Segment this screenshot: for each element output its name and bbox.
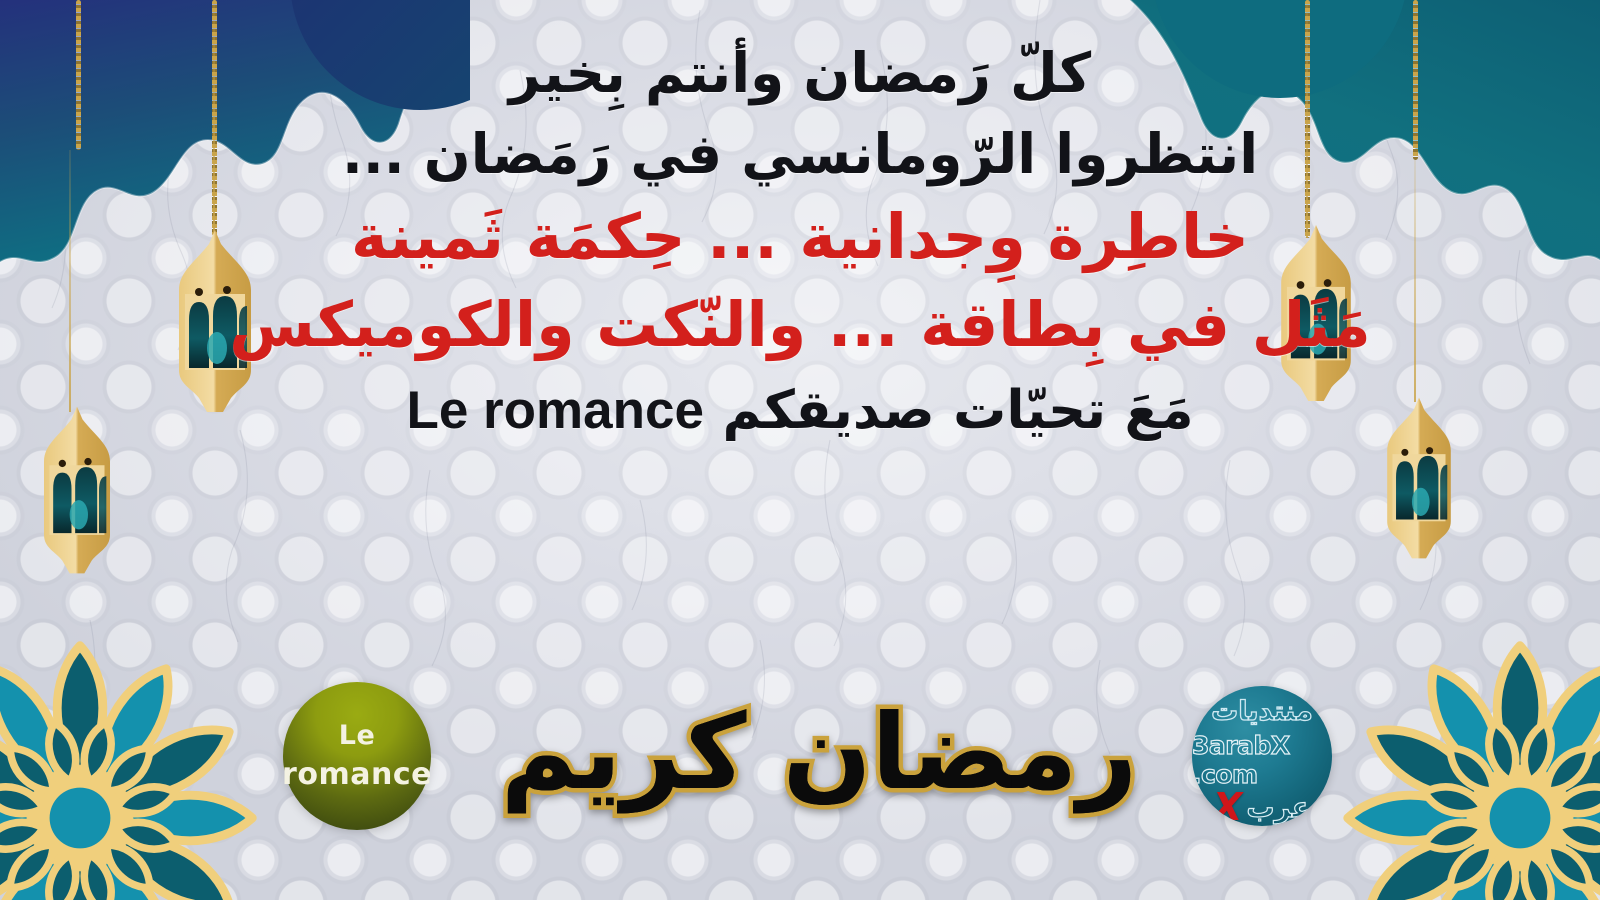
le-romance-logo-bottom: romance (282, 757, 432, 792)
greeting-signature-latin: Le romance (406, 381, 704, 440)
greeting-line-4: مَثَل في بِطاقة ... والنّكت والكوميكس (0, 294, 1600, 356)
le-romance-logo[interactable]: Le romance (283, 682, 431, 830)
greeting-text-block: كلّ رَمضان وأنتم بِخير انتظروا الرّومانس… (0, 46, 1600, 437)
greeting-line-5: مَعَ تحيّات صديقكم Le romance (0, 384, 1600, 437)
greeting-line-3: خاطِرة وِجدانية ... حِكمَة ثَمينة (0, 206, 1600, 268)
calligraphy-black-fill: رمضان كريم (494, 668, 1144, 836)
le-romance-logo-top: Le (339, 720, 376, 751)
greeting-line-1: كلّ رَمضان وأنتم بِخير (0, 46, 1600, 101)
mandala-bottom-left (0, 628, 270, 900)
ramadan-kareem-calligraphy: رمضان كريم رمضان كريم (494, 668, 1144, 836)
forum-logo-arabic-top: منتديات (1211, 696, 1313, 727)
mandala-bottom-right (1330, 628, 1600, 900)
3arabx-forum-logo[interactable]: منتديات 3arabX .com X عرب (1192, 686, 1332, 826)
forum-logo-domain: 3arabX .com (1192, 731, 1332, 789)
ramadan-greeting-card: كلّ رَمضان وأنتم بِخير انتظروا الرّومانس… (0, 0, 1600, 900)
greeting-line-5-arabic: مَعَ تحيّات صديقكم (722, 380, 1193, 441)
greeting-line-2: انتظروا الرّومانسي في رَمَضان ... (0, 127, 1600, 182)
